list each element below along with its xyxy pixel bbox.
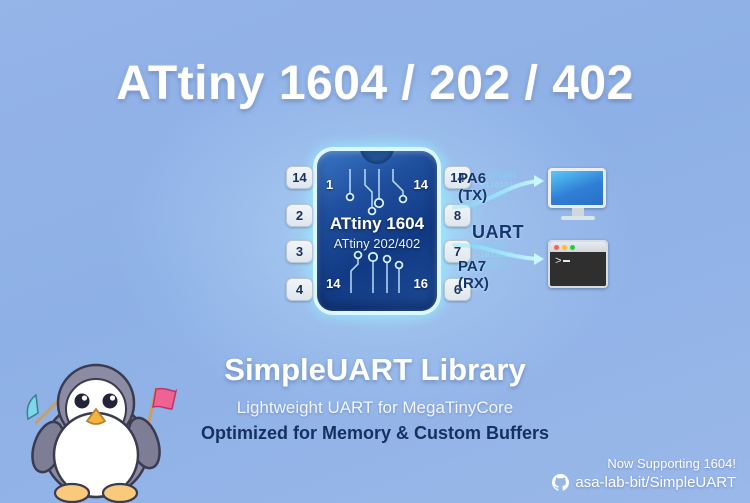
terminal-titlebar [550, 242, 606, 252]
signal-rx-dir: (RX) [458, 275, 489, 292]
terminal-cursor [563, 260, 570, 262]
pin-left-3[interactable]: 3 [286, 240, 313, 263]
terminal-window-icon: > [548, 240, 608, 288]
monitor-base [561, 216, 595, 220]
chip-corner-bottom-left: 14 [326, 276, 340, 291]
chip-corner-top-left: 1 [326, 177, 333, 192]
pin-left-1[interactable]: 14 [286, 166, 313, 189]
signal-tx-pin: PA6 [458, 170, 487, 187]
computer-monitor-icon [548, 168, 608, 220]
github-icon [552, 474, 569, 491]
page-title: ATtiny 1604 / 202 / 402 [0, 56, 750, 111]
pin-left-4[interactable]: 4 [286, 278, 313, 301]
signal-rx-pin: PA7 [458, 258, 489, 275]
signal-tx-dir: (TX) [458, 187, 487, 204]
chip-body: 1 14 14 16 ATtiny 1604 ATtiny 202/402 [317, 151, 437, 311]
repo-name: asa-lab-bit/SimpleUART [575, 474, 736, 491]
infographic-canvas: ATtiny 1604 / 202 / 402 [0, 0, 750, 503]
footer: Now Supporting 1604! asa-lab-bit/SimpleU… [552, 456, 736, 491]
penguin-right-foot [103, 484, 137, 502]
chip-subname-label: ATtiny 202/402 [317, 236, 437, 251]
svg-text:101101: 101101 [488, 171, 517, 180]
pin-left-2[interactable]: 2 [286, 204, 313, 227]
penguin-mascot [16, 351, 186, 503]
terminal-prompt: > [555, 256, 562, 268]
signal-rx-label: PA7 (RX) [458, 258, 489, 292]
monitor-screen [548, 168, 606, 208]
terminal-maximize-dot [570, 245, 575, 250]
terminal-close-dot [554, 245, 559, 250]
penguin-left-foot [55, 484, 89, 502]
penguin-right-eye [103, 394, 118, 409]
terminal-minimize-dot [562, 245, 567, 250]
terminal-body: > [550, 252, 606, 286]
penguin-left-eye [75, 394, 90, 409]
monitor-neck [572, 208, 584, 216]
now-supporting-label: Now Supporting 1604! [552, 456, 736, 471]
repo-link[interactable]: asa-lab-bit/SimpleUART [552, 474, 736, 491]
chip-name-label: ATtiny 1604 [317, 214, 437, 234]
signal-tx-label: PA6 (TX) [458, 170, 487, 204]
chip-corner-top-right: 14 [414, 177, 428, 192]
chip-corner-bottom-right: 16 [414, 276, 428, 291]
uart-bus-label: UART [472, 222, 524, 243]
